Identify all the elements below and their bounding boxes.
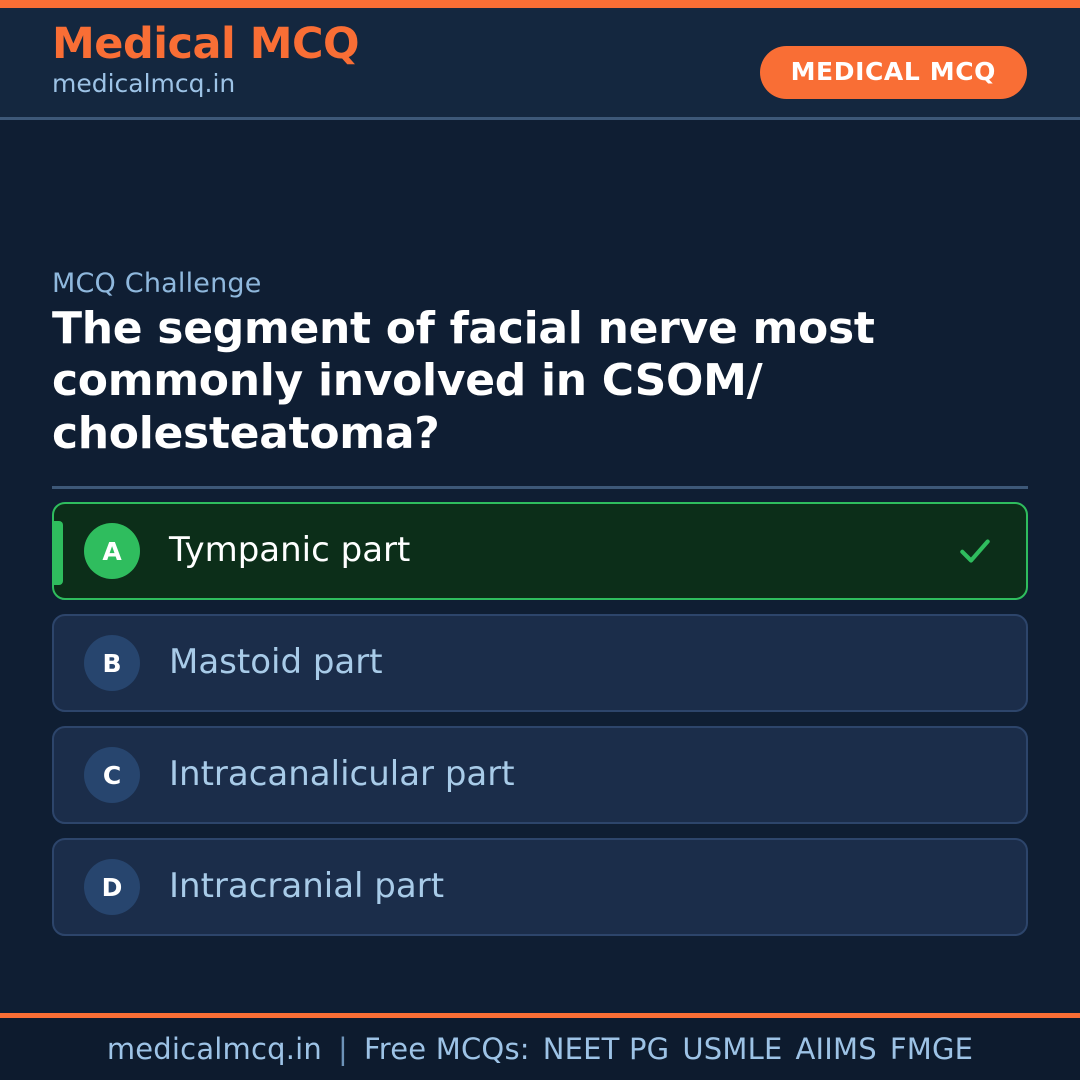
option-a[interactable]: A Tympanic part (52, 502, 1028, 600)
footer-site[interactable]: medicalmcq.in (107, 1032, 322, 1066)
option-d[interactable]: D Intracranial part (52, 838, 1028, 936)
footer-exams-label: Free MCQs: (364, 1032, 543, 1066)
option-c-label: Intracanalicular part (169, 756, 515, 793)
option-a-badge: A (84, 523, 140, 579)
kicker-label: MCQ Challenge (52, 268, 262, 299)
footer-exam-aiims: AIIMS (796, 1032, 890, 1066)
brand-block: Medical MCQ medicalmcq.in (52, 22, 359, 98)
footer-exam-neetpg: NEET PG (543, 1032, 683, 1066)
footer-exam-fmge: FMGE (890, 1032, 973, 1066)
question-divider (52, 486, 1028, 489)
footer-text: medicalmcq.in|Free MCQs:NEET PGUSMLEAIIM… (107, 1032, 973, 1066)
option-b-badge: B (84, 635, 140, 691)
option-d-badge: D (84, 859, 140, 915)
option-d-label: Intracranial part (169, 868, 444, 905)
brand-title: Medical MCQ (52, 22, 359, 67)
option-a-label: Tympanic part (169, 532, 410, 569)
page-header: Medical MCQ medicalmcq.in MEDICAL MCQ (0, 8, 1080, 120)
option-c[interactable]: C Intracanalicular part (52, 726, 1028, 824)
footer-exam-usmle: USMLE (682, 1032, 795, 1066)
options-list: A Tympanic part B Mastoid part C Intraca… (52, 502, 1028, 950)
brand-subtitle: medicalmcq.in (52, 70, 359, 98)
page-footer: medicalmcq.in|Free MCQs:NEET PGUSMLEAIIM… (0, 1013, 1080, 1080)
option-b-label: Mastoid part (169, 644, 383, 681)
option-c-badge: C (84, 747, 140, 803)
option-b[interactable]: B Mastoid part (52, 614, 1028, 712)
question-text: The segment of facial nerve most commonl… (52, 303, 1037, 460)
main-content: MCQ Challenge The segment of facial nerv… (0, 123, 1080, 1013)
header-badge: MEDICAL MCQ (760, 46, 1027, 99)
footer-separator: | (322, 1032, 364, 1066)
top-accent-bar (0, 0, 1080, 8)
check-icon (956, 532, 994, 570)
